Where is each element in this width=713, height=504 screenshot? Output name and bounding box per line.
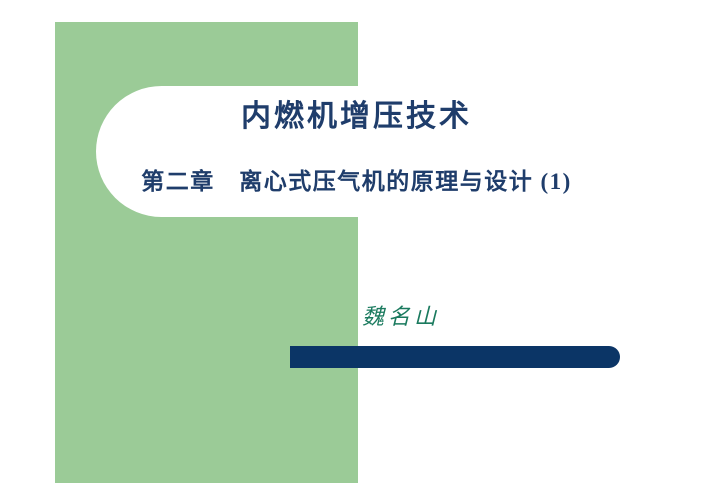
title-slide: 内燃机增压技术 第二章 离心式压气机的原理与设计 (1) 魏名山	[0, 0, 713, 504]
page-title: 内燃机增压技术	[0, 98, 713, 136]
slide-text-layer: 内燃机增压技术 第二章 离心式压气机的原理与设计 (1) 魏名山	[0, 0, 713, 504]
author-name: 魏名山	[362, 303, 440, 331]
chapter-subtitle: 第二章 离心式压气机的原理与设计 (1)	[0, 166, 713, 198]
